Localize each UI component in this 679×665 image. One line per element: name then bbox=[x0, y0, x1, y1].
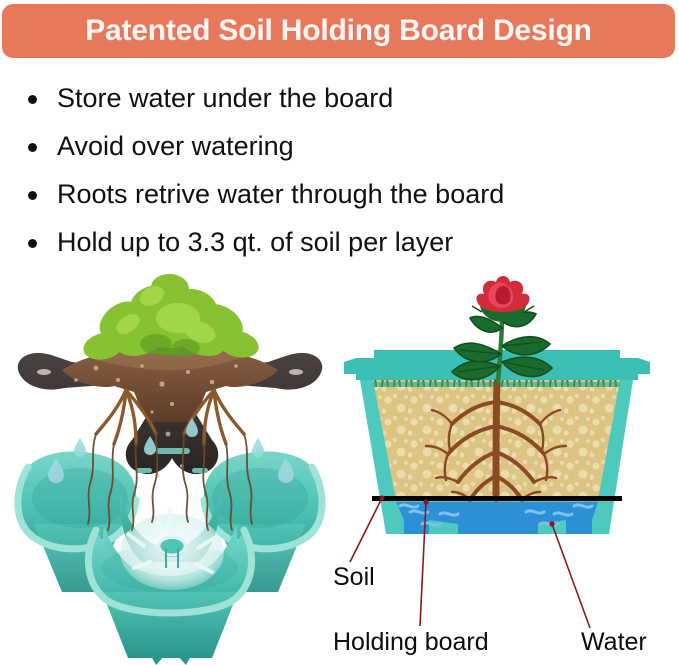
cross-section-diagram bbox=[330, 262, 679, 665]
product-photo bbox=[0, 262, 340, 665]
disc-bullet-icon bbox=[28, 95, 37, 104]
feature-text: Roots retrive water through the board bbox=[57, 179, 504, 209]
list-item: Hold up to 3.3 qt. of soil per layer bbox=[24, 218, 664, 266]
feature-text: Hold up to 3.3 qt. of soil per layer bbox=[57, 227, 453, 257]
list-item: Roots retrive water through the board bbox=[24, 170, 664, 218]
list-item: Store water under the board bbox=[24, 74, 664, 122]
plant-foliage bbox=[80, 273, 261, 364]
callout-label-holding-board: Holding board bbox=[333, 628, 489, 657]
header-banner: Patented Soil Holding Board Design bbox=[2, 4, 675, 58]
illustration-area bbox=[0, 262, 679, 665]
list-item: Avoid over watering bbox=[24, 122, 664, 170]
callout-label-water: Water bbox=[581, 628, 647, 657]
feature-list: Store water under the board Avoid over w… bbox=[24, 74, 664, 266]
feature-text: Avoid over watering bbox=[57, 131, 294, 161]
disc-bullet-icon bbox=[28, 143, 37, 152]
feature-text: Store water under the board bbox=[57, 83, 393, 113]
holding-board-line bbox=[372, 496, 622, 501]
callout-label-soil: Soil bbox=[333, 563, 375, 592]
disc-bullet-icon bbox=[28, 191, 37, 200]
disc-bullet-icon bbox=[28, 239, 37, 248]
page-title: Patented Soil Holding Board Design bbox=[2, 14, 675, 48]
